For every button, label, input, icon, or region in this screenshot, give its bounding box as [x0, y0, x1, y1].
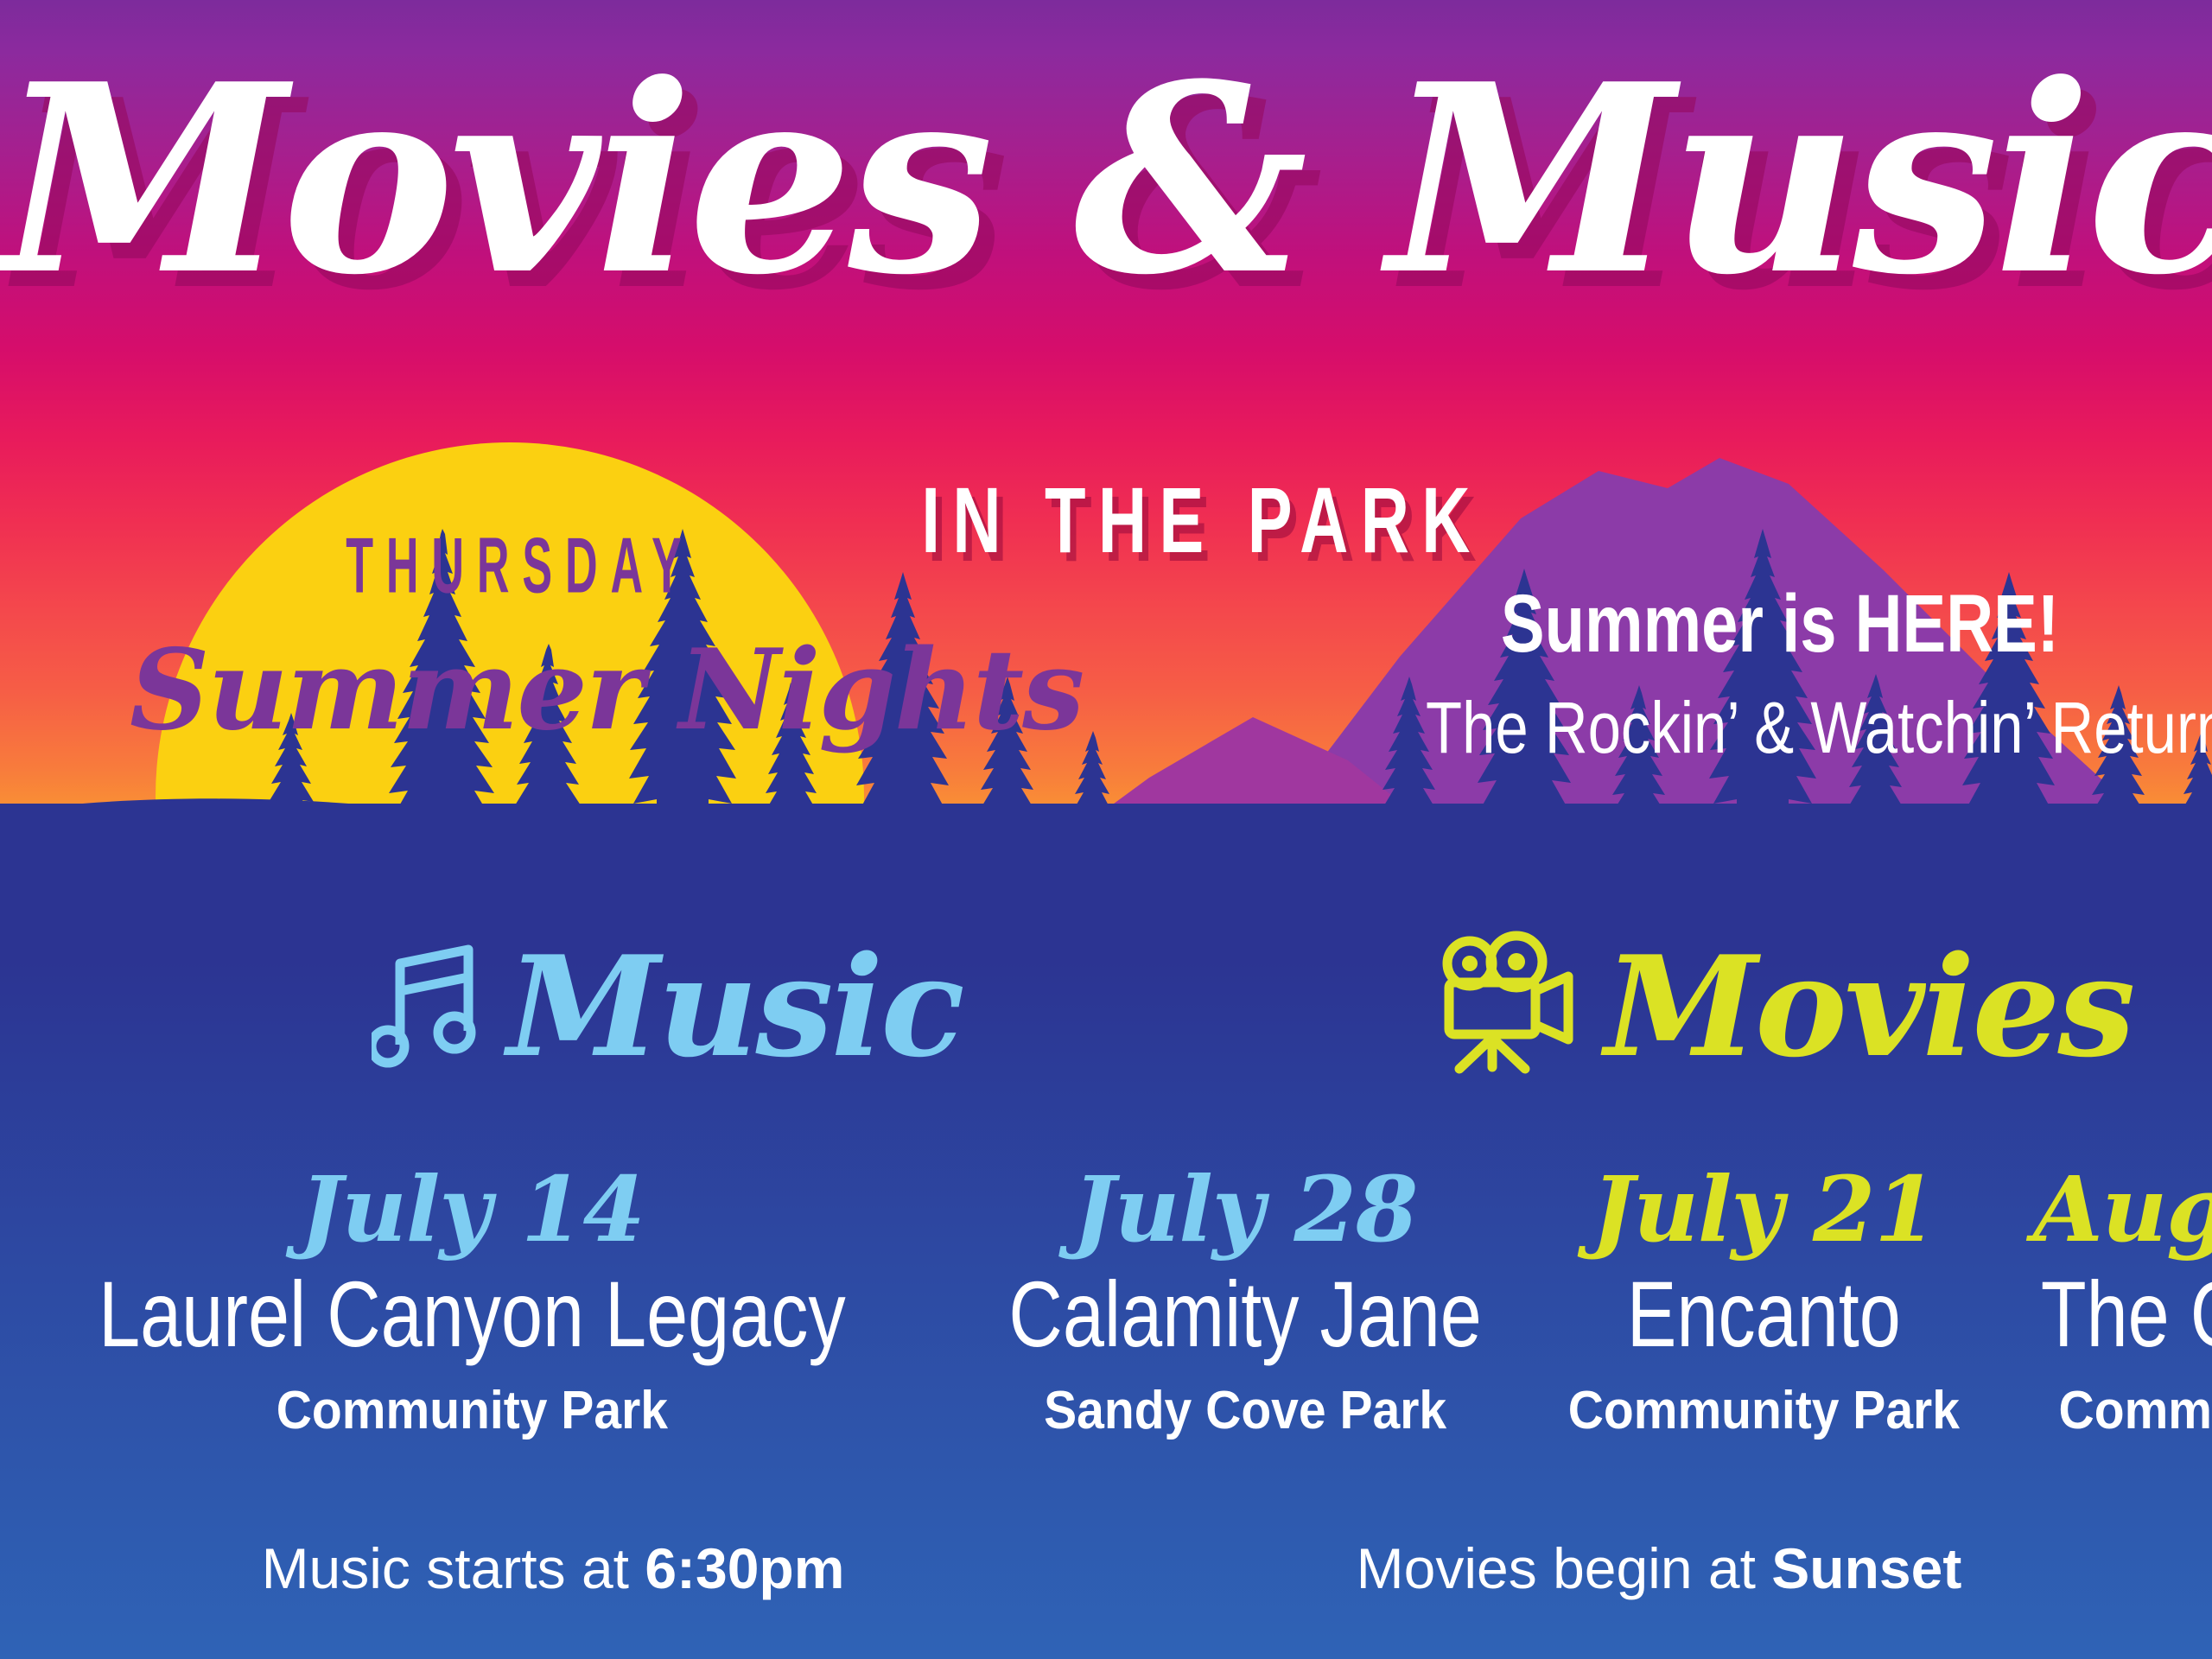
sun-badge-tagline: Summer Nights [130, 635, 890, 746]
event-card[interactable]: August 4 The Goonies Community Park [1982, 1162, 2212, 1438]
footer-movies-note: Movies begin at Sunset [1106, 1540, 2212, 1597]
page-subtitle: IN THE PARK [921, 474, 1394, 567]
section-header-movies: Movies [1439, 929, 2133, 1084]
event-venue: Sandy Cove Park [973, 1384, 1517, 1438]
content-layer: Movies & Music IN THE PARK THURSDAY Summ… [0, 0, 2212, 1659]
section-header-music: Music [372, 938, 963, 1076]
event-name: Laurel Canyon Legacy [99, 1267, 846, 1362]
event-date: July 28 [950, 1162, 1541, 1256]
event-date: July 14 [5, 1162, 939, 1256]
event-card[interactable]: July 14 Laurel Canyon Legacy Community P… [0, 1162, 944, 1438]
event-card[interactable]: July 21 Encanto Community Park [1546, 1162, 1982, 1438]
footer-notes: Music starts at 6:30pm Movies begin at S… [0, 1540, 2212, 1597]
section-label-movies: Movies [1605, 938, 2133, 1076]
event-venue: Community Park [1568, 1384, 1960, 1438]
movie-camera-icon [1439, 929, 1586, 1084]
music-note-icon [372, 938, 488, 1076]
event-card[interactable]: July 28 Calamity Jane Sandy Cove Park [944, 1162, 1546, 1438]
footer-movies-time: Sunset [1771, 1536, 1961, 1600]
event-name: Calamity Jane [1008, 1267, 1481, 1362]
event-date: August 4 [1987, 1162, 2212, 1256]
event-venue: Community Park [2008, 1384, 2212, 1438]
event-date: July 21 [1551, 1162, 1977, 1256]
footer-music-prefix: Music starts at [262, 1536, 645, 1600]
footer-music-note: Music starts at 6:30pm [0, 1540, 1106, 1597]
footer-music-time: 6:30pm [645, 1536, 844, 1600]
announcement-subline: The Rockin’ & Watchin’ Returns! [1426, 691, 2134, 764]
section-label-music: Music [507, 938, 963, 1076]
footer-movies-prefix: Movies begin at [1357, 1536, 1772, 1600]
event-name: Encanto [1593, 1267, 1934, 1362]
event-listings: July 14 Laurel Canyon Legacy Community P… [0, 1162, 2212, 1438]
event-venue: Community Park [42, 1384, 901, 1438]
page-title: Movies & Music [0, 50, 2212, 309]
announcement-headline: Summer is HERE! [1462, 583, 2098, 665]
event-name: The Goonies [2041, 1267, 2212, 1362]
poster-canvas: Movies & Music IN THE PARK THURSDAY Summ… [0, 0, 2212, 1659]
sun-badge-day: THURSDAY [346, 526, 657, 605]
